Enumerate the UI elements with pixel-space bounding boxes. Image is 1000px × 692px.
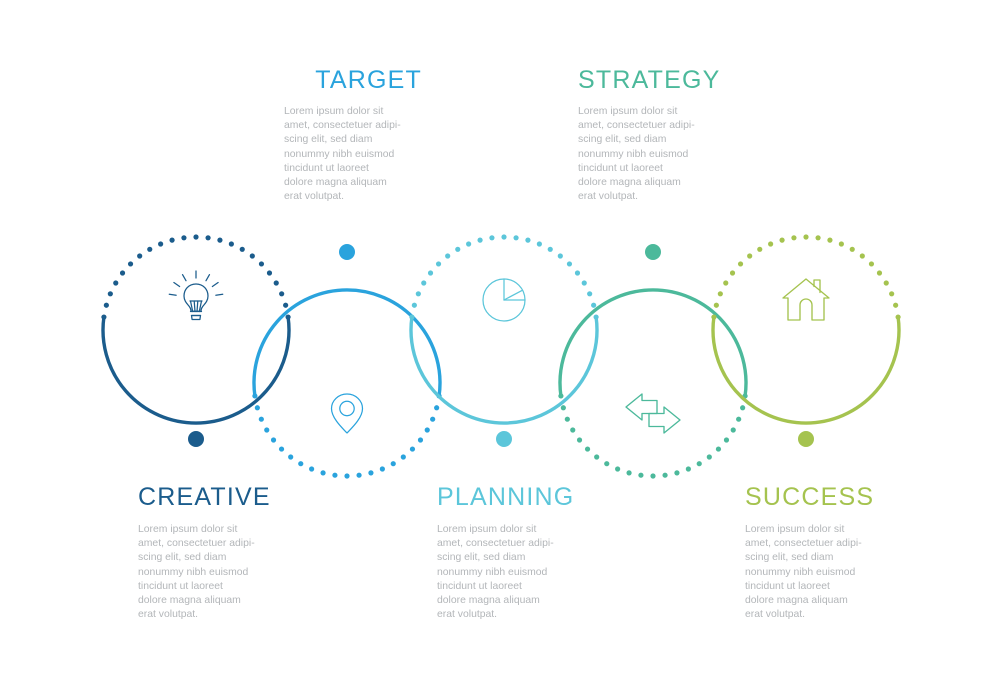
copy-line: scing elit, sed diam bbox=[138, 551, 276, 565]
pie-chart-icon bbox=[483, 279, 525, 321]
copy-line: tincidunt ut laoreet bbox=[578, 162, 716, 176]
marker-dot-success bbox=[798, 431, 814, 447]
heading-planning: PLANNING bbox=[437, 485, 587, 510]
text-block-strategy: STRATEGY Lorem ipsum dolor sit amet, con… bbox=[578, 68, 728, 204]
copy-line: dolore magna aliquam bbox=[745, 594, 883, 608]
copy-line: amet, consectetuer adipi- bbox=[745, 537, 883, 551]
marker-dot-planning bbox=[496, 431, 512, 447]
copy-line: scing elit, sed diam bbox=[284, 133, 422, 147]
copy-line: dolore magna aliquam bbox=[578, 176, 716, 190]
dotted-arc-success bbox=[711, 234, 900, 319]
copy-line: scing elit, sed diam bbox=[437, 551, 575, 565]
copy-line: scing elit, sed diam bbox=[578, 133, 716, 147]
copy-line: tincidunt ut laoreet bbox=[138, 580, 276, 594]
copy-line: tincidunt ut laoreet bbox=[284, 162, 422, 176]
marker-dot-strategy bbox=[645, 244, 661, 260]
exchange-arrows-icon bbox=[626, 394, 680, 433]
copy-line: nonummy nibh euismod bbox=[437, 566, 575, 580]
text-block-target: TARGET Lorem ipsum dolor sit amet, conse… bbox=[272, 68, 422, 204]
lightbulb-icon bbox=[169, 271, 222, 320]
marker-dot-creative bbox=[188, 431, 204, 447]
copy-line: nonummy nibh euismod bbox=[745, 566, 883, 580]
copy-line: tincidunt ut laoreet bbox=[745, 580, 883, 594]
copy-line: Lorem ipsum dolor sit bbox=[578, 105, 716, 119]
copy-line: erat volutpat. bbox=[437, 608, 575, 622]
copy-line: dolore magna aliquam bbox=[437, 594, 575, 608]
dotted-arc-planning bbox=[409, 234, 598, 319]
copy-line: Lorem ipsum dolor sit bbox=[138, 523, 276, 537]
copy-line: Lorem ipsum dolor sit bbox=[437, 523, 575, 537]
copy-line: erat volutpat. bbox=[284, 190, 422, 204]
copy-line: dolore magna aliquam bbox=[284, 176, 422, 190]
home-icon bbox=[783, 279, 829, 320]
copy-line: nonummy nibh euismod bbox=[138, 566, 276, 580]
circle-arc-creative bbox=[103, 317, 289, 423]
copy-line: Lorem ipsum dolor sit bbox=[745, 523, 883, 537]
copy-line: Lorem ipsum dolor sit bbox=[284, 105, 422, 119]
heading-strategy: STRATEGY bbox=[578, 68, 728, 93]
body-copy-success: Lorem ipsum dolor sit amet, consectetuer… bbox=[745, 523, 883, 622]
heading-target: TARGET bbox=[272, 68, 422, 93]
copy-line: nonummy nibh euismod bbox=[284, 148, 422, 162]
copy-line: amet, consectetuer adipi- bbox=[284, 119, 422, 133]
text-block-success: SUCCESS Lorem ipsum dolor sit amet, cons… bbox=[745, 485, 895, 622]
copy-line: erat volutpat. bbox=[578, 190, 716, 204]
heading-success: SUCCESS bbox=[745, 485, 895, 510]
marker-dot-target bbox=[339, 244, 355, 260]
dotted-arc-strategy bbox=[558, 393, 747, 478]
copy-line: amet, consectetuer adipi- bbox=[578, 119, 716, 133]
copy-line: dolore magna aliquam bbox=[138, 594, 276, 608]
text-block-planning: PLANNING Lorem ipsum dolor sit amet, con… bbox=[437, 485, 587, 622]
copy-line: scing elit, sed diam bbox=[745, 551, 883, 565]
copy-line: tincidunt ut laoreet bbox=[437, 580, 575, 594]
location-pin-icon bbox=[332, 394, 363, 433]
body-copy-creative: Lorem ipsum dolor sit amet, consectetuer… bbox=[138, 523, 276, 622]
copy-line: erat volutpat. bbox=[745, 608, 883, 622]
copy-line: amet, consectetuer adipi- bbox=[138, 537, 276, 551]
dotted-arc-target bbox=[252, 393, 441, 478]
copy-line: erat volutpat. bbox=[138, 608, 276, 622]
copy-line: amet, consectetuer adipi- bbox=[437, 537, 575, 551]
body-copy-target: Lorem ipsum dolor sit amet, consectetuer… bbox=[284, 105, 422, 204]
heading-creative: CREATIVE bbox=[138, 485, 288, 510]
body-copy-planning: Lorem ipsum dolor sit amet, consectetuer… bbox=[437, 523, 575, 622]
body-copy-strategy: Lorem ipsum dolor sit amet, consectetuer… bbox=[578, 105, 716, 204]
text-block-creative: CREATIVE Lorem ipsum dolor sit amet, con… bbox=[138, 485, 288, 622]
infographic-canvas: TARGET Lorem ipsum dolor sit amet, conse… bbox=[0, 0, 1000, 692]
copy-line: nonummy nibh euismod bbox=[578, 148, 716, 162]
